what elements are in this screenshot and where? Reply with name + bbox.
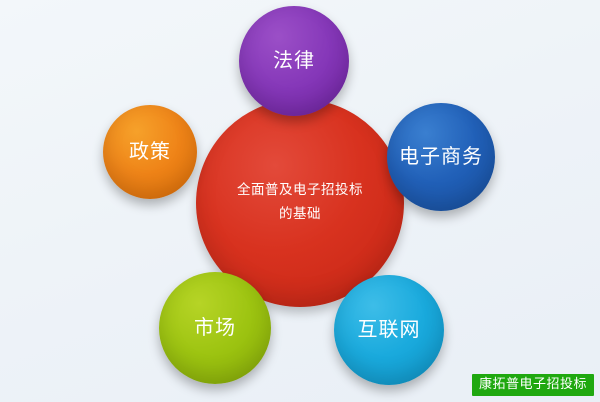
watermark-badge: 康拓普电子招投标 (472, 374, 594, 396)
node-law-label: 法律 (248, 49, 340, 73)
diagram-canvas: 全面普及电子招投标 的基础 法律 电子商务 互联网 市场 政策 康拓普电子招投标 (0, 0, 600, 402)
node-market[interactable]: 市场 (159, 272, 271, 384)
center-node-label-line-2: 的基础 (220, 203, 380, 227)
node-internet-label: 互联网 (343, 318, 435, 342)
center-node-label-line-1: 全面普及电子招投标 (220, 179, 380, 203)
node-policy-label: 政策 (111, 140, 190, 164)
node-market-label: 市场 (168, 316, 262, 340)
node-law[interactable]: 法律 (239, 6, 349, 116)
node-internet[interactable]: 互联网 (334, 275, 444, 385)
center-node-label: 全面普及电子招投标 的基础 (220, 179, 380, 226)
node-policy[interactable]: 政策 (103, 105, 197, 199)
node-ecommerce-label: 电子商务 (396, 145, 487, 169)
node-ecommerce[interactable]: 电子商务 (387, 103, 495, 211)
